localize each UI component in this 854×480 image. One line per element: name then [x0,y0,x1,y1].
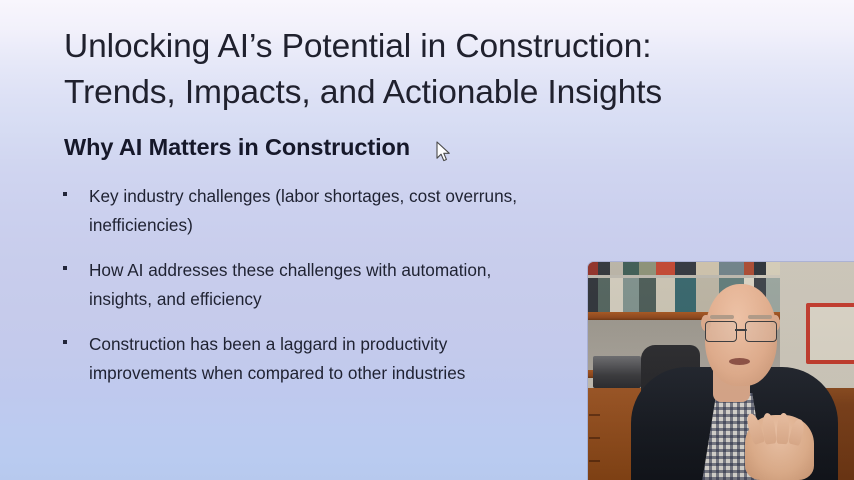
book-spine [656,262,675,275]
presenter-video-overlay[interactable] [588,262,854,480]
presenter-hand [745,415,814,480]
book-spine [719,262,744,275]
list-item: Construction has been a laggard in produ… [60,330,530,387]
bullet-list: Key industry challenges (labor shortages… [60,182,530,404]
book-spine [610,278,624,312]
eyebrow-left [710,315,734,318]
book-spine [623,262,638,275]
book-spine [766,262,780,275]
book-spine [754,262,766,275]
presenter-mouth [729,358,750,365]
book-spine [588,278,598,312]
bullet-text: Construction has been a laggard in produ… [89,334,465,383]
book-spine [675,278,696,312]
slide-title: Unlocking AI’s Potential in Construction… [64,24,764,116]
finger [788,418,806,446]
finger [776,413,789,445]
book-spine [610,262,624,275]
book-spine [588,262,598,275]
book-spine [656,278,675,312]
slide-title-line-2: Trends, Impacts, and Actionable Insights [64,70,764,116]
lens-left [705,321,737,343]
bullet-marker-icon [63,192,67,196]
eyeglasses-icon [705,321,777,341]
eyebrow-right [748,315,772,318]
book-spine [639,262,656,275]
book-spine [623,278,638,312]
book-spine [744,262,754,275]
book-spine [696,262,719,275]
bullet-marker-icon [63,266,67,270]
bullet-marker-icon [63,340,67,344]
book-spine [639,278,656,312]
printer [593,356,641,389]
list-item: How AI addresses these challenges with a… [60,256,530,313]
lens-right [745,321,777,343]
book-spine [598,278,610,312]
book-spine [598,262,610,275]
presentation-slide: Unlocking AI’s Potential in Construction… [0,0,854,480]
mouse-pointer-icon [436,141,451,162]
bookshelf-row-upper [588,262,780,275]
list-item: Key industry challenges (labor shortages… [60,182,530,239]
picture-frame [806,303,854,363]
slide-title-line-1: Unlocking AI’s Potential in Construction… [64,24,764,70]
book-spine [675,262,696,275]
bullet-text: How AI addresses these challenges with a… [89,260,491,309]
section-heading: Why AI Matters in Construction [64,134,410,161]
bullet-text: Key industry challenges (labor shortages… [89,186,517,235]
